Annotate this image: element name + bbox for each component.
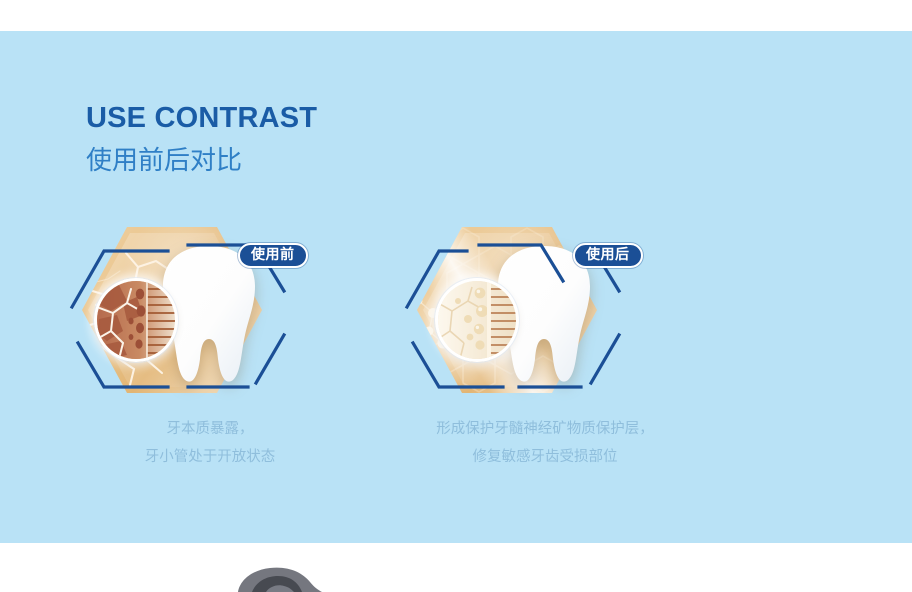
compare-panel-before: 使用前 牙本质暴露， 牙小管处于开放状态 [60, 215, 360, 480]
title-chinese: 使用前后对比 [86, 145, 317, 177]
caption-before: 牙本质暴露， 牙小管处于开放状态 [60, 415, 360, 471]
title-english: USE CONTRAST [86, 101, 317, 135]
caption-after-line2: 修复敏感牙齿受损部位 [375, 443, 715, 471]
caption-after-line1: 形成保护牙髓神经矿物质保护层， [375, 415, 715, 443]
hexagon-stage-before: 使用前 [60, 215, 360, 405]
caption-before-line2: 牙小管处于开放状态 [60, 443, 360, 471]
page-title: USE CONTRAST 使用前后对比 [86, 101, 317, 177]
compare-panel-after: 使用后 形成保护牙髓神经矿物质保护层， 修复敏感牙齿受损部位 [395, 215, 695, 480]
caption-before-line1: 牙本质暴露， [60, 415, 360, 443]
badge-before: 使用前 [238, 243, 308, 268]
caption-after: 形成保护牙髓神经矿物质保护层， 修复敏感牙齿受损部位 [375, 415, 715, 471]
bottom-partial-photo [226, 560, 396, 592]
magnifier-circle-before [94, 278, 178, 362]
magnifier-circle-after [435, 278, 519, 362]
badge-after: 使用后 [573, 243, 643, 268]
page-root: USE CONTRAST 使用前后对比 [0, 0, 912, 592]
hexagon-stage-after: 使用后 [395, 215, 695, 405]
